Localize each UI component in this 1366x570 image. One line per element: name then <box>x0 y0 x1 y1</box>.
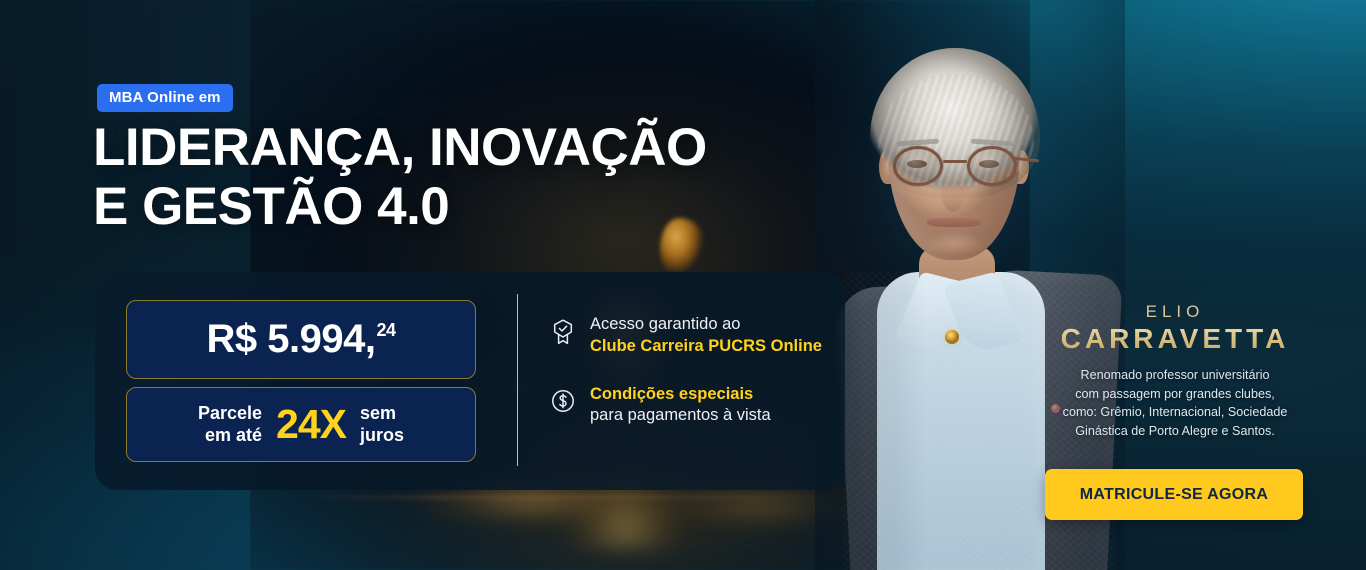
professor-description: Renomado professor universitário com pas… <box>1025 366 1325 441</box>
vertical-divider <box>517 294 518 466</box>
professor-first-name: ELIO <box>1025 303 1325 322</box>
eyeglass-lens-left <box>893 146 943 186</box>
dollar-circle-icon <box>550 388 576 416</box>
enroll-now-button[interactable]: MATRICULE-SE AGORA <box>1045 469 1303 520</box>
offer-card: R$ 5.994, 24 Parcele em até 24X sem juro… <box>95 272 845 490</box>
professor-info: ELIO CARRAVETTA Renomado professor unive… <box>1025 303 1325 440</box>
benefit-text: Acesso garantido ao Clube Carreira PUCRS… <box>590 314 822 358</box>
promo-banner: MBA Online em LIDERANÇA, INOVAÇÃO E GEST… <box>0 0 1366 570</box>
price-value: R$ 5.994, 24 <box>207 317 396 362</box>
benefit-line-2: para pagamentos à vista <box>590 405 771 427</box>
benefit-line-1: Condições especiais <box>590 384 771 406</box>
benefit-line-2: Clube Carreira PUCRS Online <box>590 336 822 358</box>
eyeglass-bridge <box>943 160 967 163</box>
installments-suffix: sem juros <box>360 403 404 445</box>
portrait-eyeglasses <box>887 146 1023 186</box>
installments-box: Parcele em até 24X sem juros <box>126 387 476 462</box>
portrait-mouth <box>927 218 981 227</box>
benefit-text: Condições especiais para pagamentos à vi… <box>590 384 771 428</box>
installments-prefix: Parcele em até <box>198 403 262 445</box>
installments-count: 24X <box>276 404 346 445</box>
page-title: LIDERANÇA, INOVAÇÃO E GESTÃO 4.0 <box>93 118 707 237</box>
portrait-chin <box>915 232 995 262</box>
list-item: Condições especiais para pagamentos à vi… <box>550 384 830 428</box>
award-badge-check-icon <box>550 318 576 346</box>
eyeglass-lens-right <box>967 146 1017 186</box>
portrait-necklace-pendant <box>945 330 959 344</box>
course-type-badge: MBA Online em <box>97 84 233 112</box>
professor-last-name: CARRAVETTA <box>1025 323 1325 355</box>
price-cents: 24 <box>376 321 395 339</box>
list-item: Acesso garantido ao Clube Carreira PUCRS… <box>550 314 830 358</box>
price-box: R$ 5.994, 24 <box>126 300 476 379</box>
price-main: R$ 5.994, <box>207 317 376 362</box>
benefit-line-1: Acesso garantido ao <box>590 314 822 336</box>
benefits-list: Acesso garantido ao Clube Carreira PUCRS… <box>550 314 830 453</box>
